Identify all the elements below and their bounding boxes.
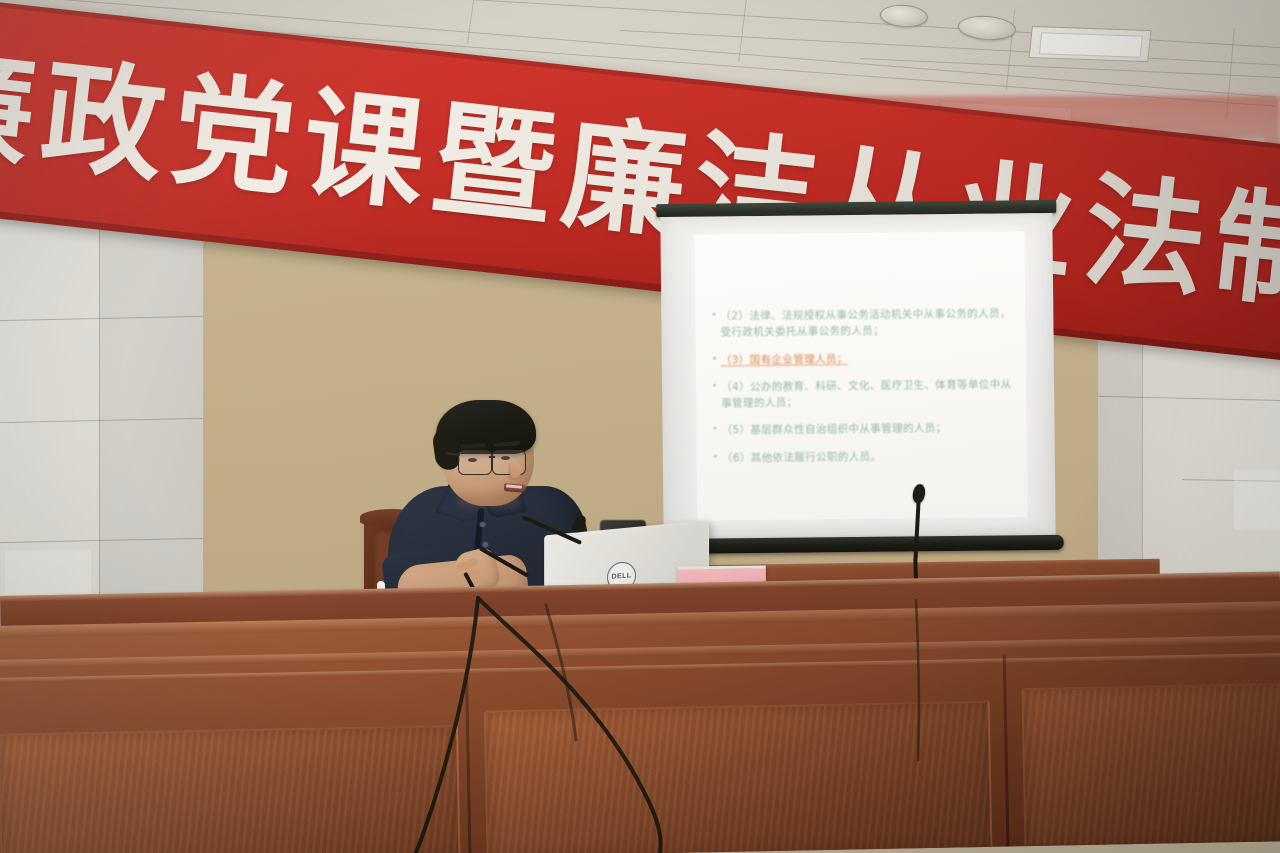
slide-bullet-line: • （5）基层群众性自治组织中从事管理的人员；	[712, 420, 1012, 439]
screen-bottom-roller	[658, 535, 1064, 554]
slide-bullet-line: • （4）公办的教育、科研、文化、医疗卫生、体育等单位中从事管理的人员；	[712, 376, 1012, 412]
bullet-icon: •	[712, 423, 721, 438]
slide-bullet-line: • （2）法律、法规授权从事公务活动机关中从事公务的人员，受行政机关委托从事公务…	[711, 305, 1011, 341]
bullet-icon: •	[713, 450, 722, 465]
slide-bullet-line-accent: • （3）国有企业管理人员；	[712, 349, 1012, 368]
recessed-light-icon	[1029, 26, 1152, 62]
projected-slide: • （2）法律、法规授权从事公务活动机关中从事公务的人员，受行政机关委托从事公务…	[694, 231, 1027, 520]
podium-panel	[1021, 683, 1280, 850]
slide-content: • （2）法律、法规授权从事公务活动机关中从事公务的人员，受行政机关委托从事公务…	[694, 231, 1027, 520]
podium-panel	[484, 701, 993, 853]
screen-surface: • （2）法律、法规授权从事公务活动机关中从事公务的人员，受行政机关委托从事公务…	[660, 213, 1055, 539]
bullet-icon: •	[711, 308, 720, 323]
photo-scene: 廉政党课暨廉洁从业法制培训 • （2）法律、法规授权从事公务活动机关中从事公务的…	[0, 0, 1280, 853]
eyeglasses-lens-left	[458, 450, 492, 475]
podium-front	[0, 601, 1280, 853]
podium-panel	[0, 725, 461, 853]
bullet-icon: •	[712, 352, 721, 367]
ceiling-speaker-icon	[957, 14, 1017, 42]
projection-screen: • （2）法律、法规授权从事公务活动机关中从事公务的人员，受行政机关委托从事公务…	[656, 200, 1060, 556]
slide-bullet-line: • （6）其他依法履行公职的人员。	[713, 447, 1013, 466]
bullet-icon: •	[712, 379, 721, 394]
